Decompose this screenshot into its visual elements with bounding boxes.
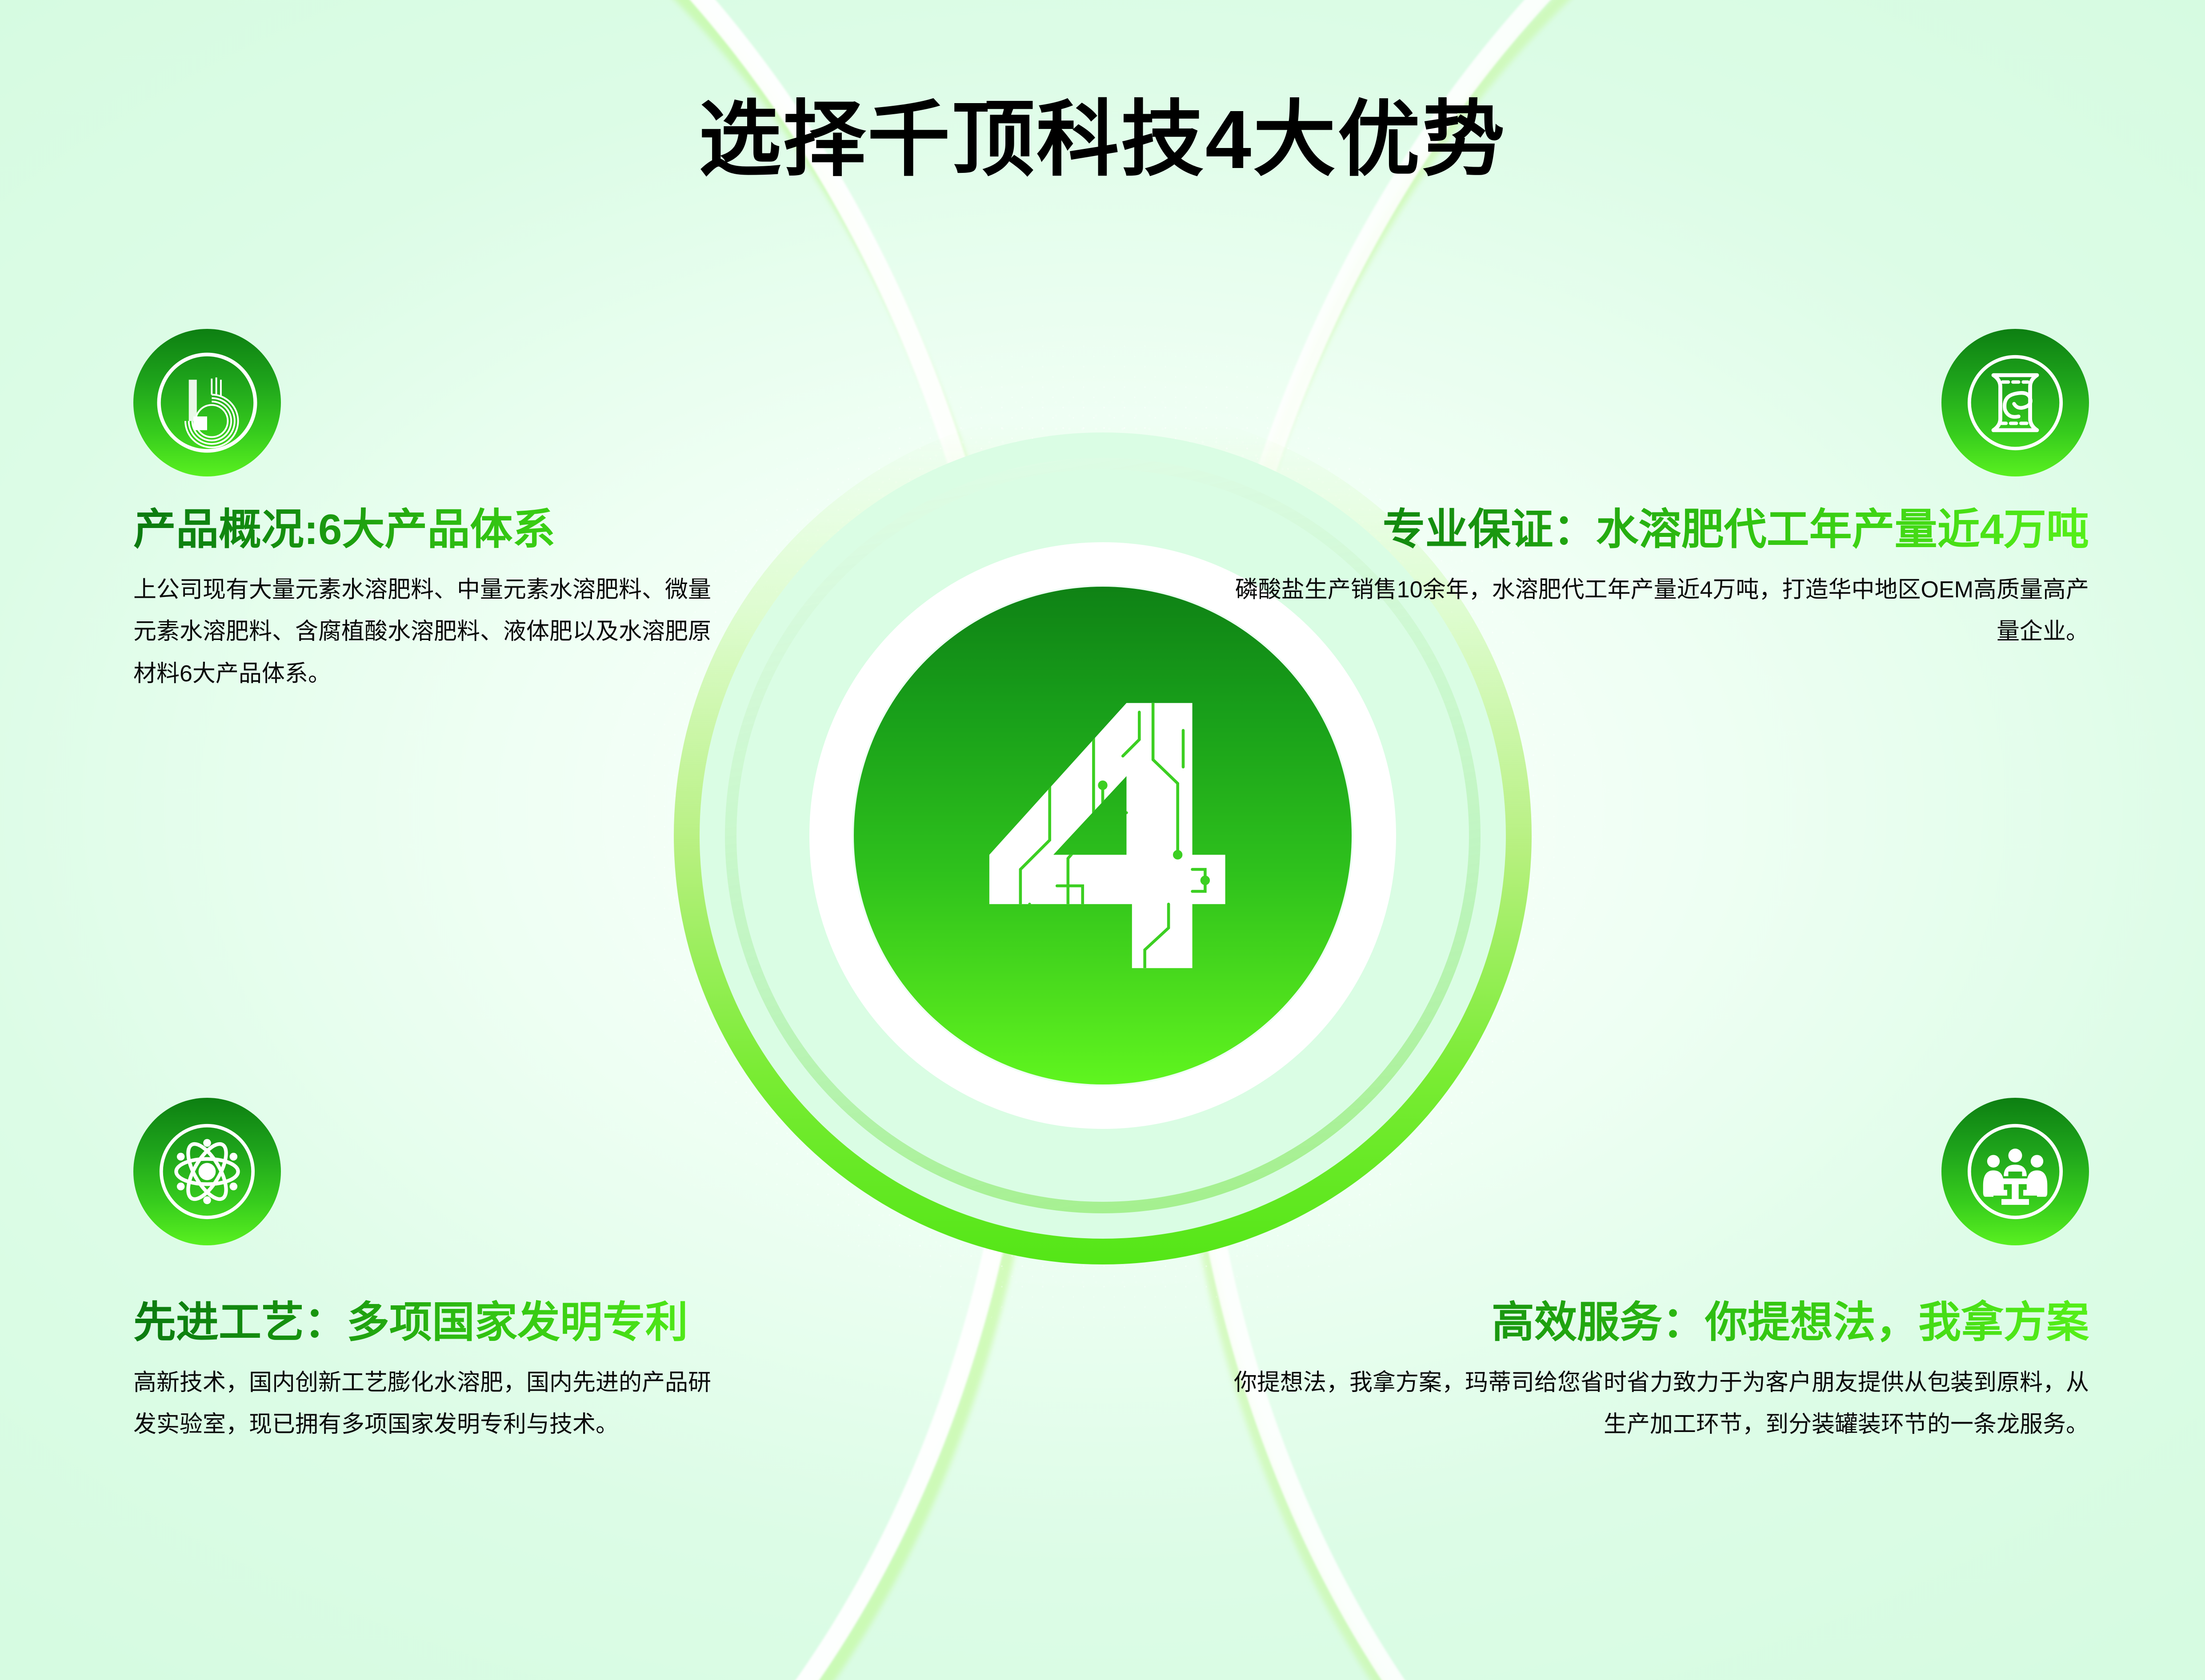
feature-body: 磷酸盐生产销售10余年，水溶肥代工年产量近4万吨，打造华中地区OEM高质量高产量…	[1218, 569, 2089, 653]
number-six-spiral-icon	[133, 329, 281, 476]
feature-efficient-service: 高效服务：你提想法，我拿方案 你提想法，我拿方案，玛蒂司给您省时省力致力于为客户…	[1218, 1098, 2089, 1446]
feature-professional-guarantee: 专业保证：水溶肥代工年产量近4万吨 磷酸盐生产销售10余年，水溶肥代工年产量近4…	[1218, 329, 2089, 653]
feature-body: 你提想法，我拿方案，玛蒂司给您省时省力致力于为客户朋友提供从包装到原料，从生产加…	[1218, 1362, 2089, 1446]
feature-heading: 高效服务：你提想法，我拿方案	[1218, 1299, 2089, 1347]
fertilizer-bag-glyph	[1958, 345, 2073, 460]
meeting-table-glyph	[1958, 1114, 2073, 1229]
meeting-table-icon	[1941, 1098, 2089, 1245]
feature-heading: 产品概况:6大产品体系	[133, 506, 724, 554]
center-number-disc	[854, 587, 1352, 1084]
feature-heading: 先进工艺：多项国家发明专利	[133, 1299, 724, 1347]
feature-body: 上公司现有大量元素水溶肥料、中量元素水溶肥料、微量元素水溶肥料、含腐植酸水溶肥料…	[133, 569, 724, 695]
fertilizer-bag-icon	[1941, 329, 2089, 476]
feature-body: 高新技术，国内创新工艺膨化水溶肥，国内先进的产品研发实验室，现已拥有多项国家发明…	[133, 1362, 724, 1446]
number-six-spiral-glyph	[150, 345, 264, 460]
atom-icon	[133, 1098, 281, 1245]
feature-advanced-process: 先进工艺：多项国家发明专利 高新技术，国内创新工艺膨化水溶肥，国内先进的产品研发…	[133, 1098, 724, 1446]
circuit-four-icon	[965, 676, 1241, 996]
infographic-canvas: 选择千顶科技4大优势	[0, 0, 2205, 1680]
feature-heading: 专业保证：水溶肥代工年产量近4万吨	[1218, 506, 2089, 554]
atom-glyph	[150, 1114, 264, 1229]
page-title: 选择千顶科技4大优势	[0, 96, 2205, 185]
feature-product-overview: 产品概况:6大产品体系 上公司现有大量元素水溶肥料、中量元素水溶肥料、微量元素水…	[133, 329, 724, 695]
